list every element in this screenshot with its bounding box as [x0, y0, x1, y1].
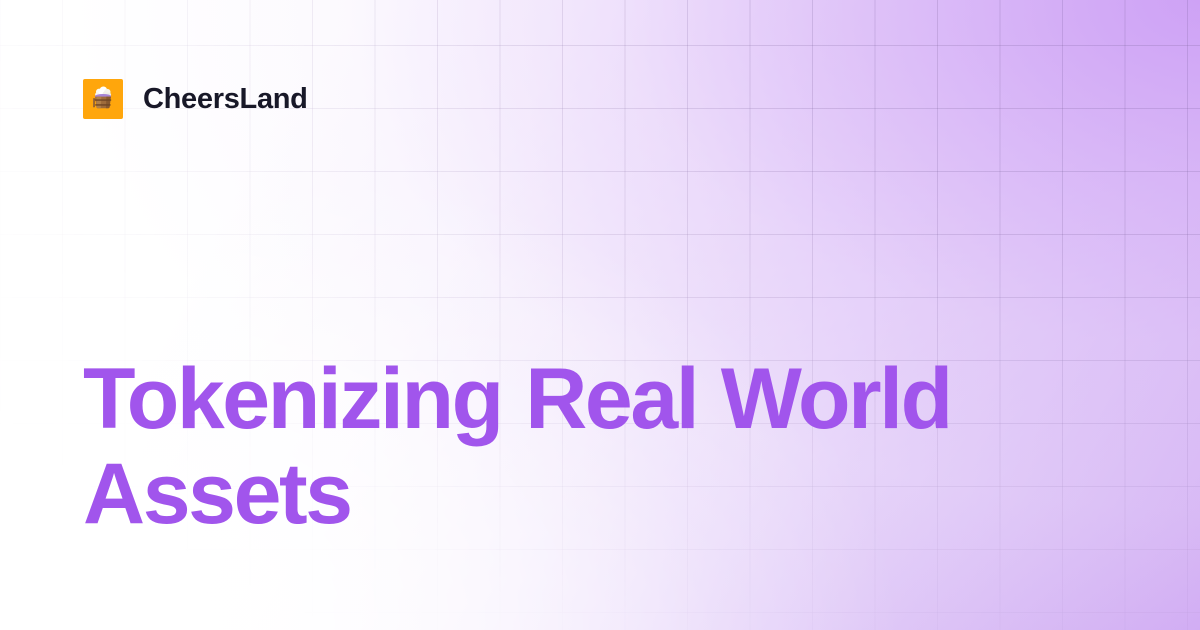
beer-mug-icon — [88, 84, 118, 114]
brand-logo-tile — [83, 79, 123, 119]
brand-name: CheersLand — [143, 85, 308, 114]
brand-lockup: CheersLand — [83, 79, 308, 119]
page-title: Tokenizing Real World Assets — [83, 352, 1043, 542]
card-content: CheersLand Tokenizing Real World Assets — [0, 0, 1200, 630]
og-card: CheersLand Tokenizing Real World Assets — [0, 0, 1200, 630]
